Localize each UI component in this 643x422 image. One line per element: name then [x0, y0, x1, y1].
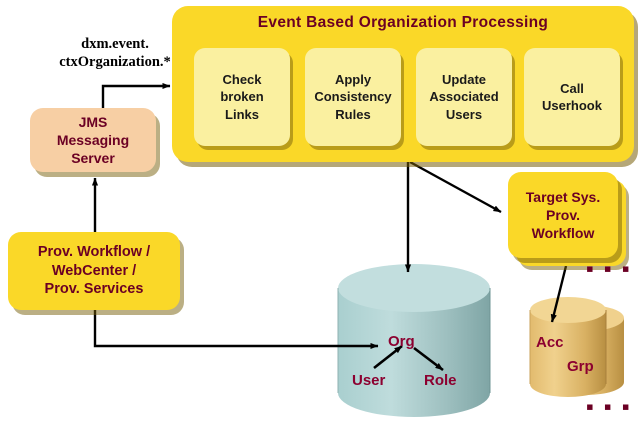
diagram-canvas: Event Based Organization Processing Chec…: [0, 0, 643, 422]
process-box-apply-consistency-rules[interactable]: Apply Consistency Rules: [305, 48, 401, 146]
node-provisioning-workflow[interactable]: Prov. Workflow / WebCenter / Prov. Servi…: [8, 232, 180, 310]
node-label: Target Sys. Prov. Workflow: [522, 188, 604, 243]
org-store-label-org: Org: [388, 333, 415, 350]
node-label: Prov. Workflow / WebCenter / Prov. Servi…: [34, 243, 154, 300]
event-processing-panel: Event Based Organization Processing Chec…: [172, 6, 634, 162]
event-panel-title: Event Based Organization Processing: [172, 14, 634, 32]
process-label: Check broken Links: [217, 71, 266, 122]
arrow-provisioning-to-org-store: [95, 310, 378, 346]
account-store-label-acc: Acc: [536, 334, 564, 351]
process-label: Update Associated Users: [426, 71, 501, 122]
process-box-update-associated-users[interactable]: Update Associated Users: [416, 48, 512, 146]
process-label: Apply Consistency Rules: [311, 71, 394, 122]
org-store-label-user: User: [352, 372, 385, 389]
node-target-system-provisioning-workflow[interactable]: Target Sys. Prov. Workflow: [508, 172, 618, 258]
account-store-more-indicator: ▪ ▪ ▪: [586, 396, 632, 418]
target-workflow-more-indicator: ▪ ▪ ▪: [586, 258, 632, 280]
process-box-check-broken-links[interactable]: Check broken Links: [194, 48, 290, 146]
node-jms-messaging-server[interactable]: JMS Messaging Server: [30, 108, 156, 172]
process-label: Call Userhook: [539, 80, 605, 114]
arrow-event-panel-to-target-workflow: [410, 162, 501, 212]
account-store-label-grp: Grp: [567, 358, 594, 375]
arrow-jms-to-event-panel: [103, 86, 170, 108]
arrow-org-to-role: [414, 348, 443, 370]
arrow-target-workflow-to-account-store: [552, 266, 566, 322]
process-box-call-userhook[interactable]: Call Userhook: [524, 48, 620, 146]
event-key-label: dxm.event. ctxOrganization.*: [40, 36, 190, 71]
org-store-label-role: Role: [424, 372, 457, 389]
node-label: JMS Messaging Server: [53, 113, 133, 168]
